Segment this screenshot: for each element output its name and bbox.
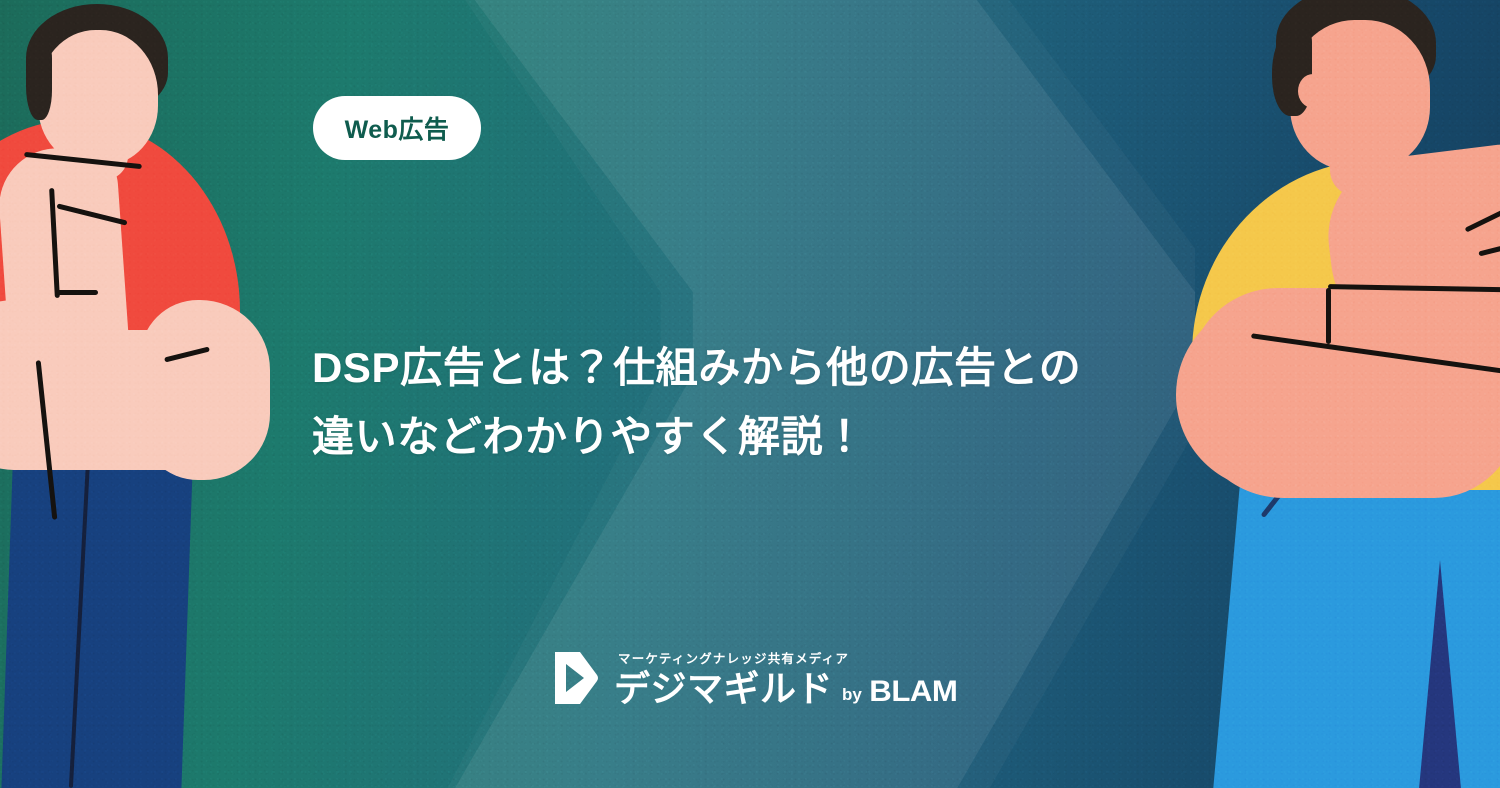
logo-site-name: デジマギルド: [614, 671, 833, 707]
logo-parent-brand: BLAM: [869, 677, 957, 707]
article-hero-banner: Web広告 DSP広告とは？仕組みから他の広告との 違いなどわかりやすく解説！ …: [0, 0, 1500, 788]
logo-name-row: デジマギルド by BLAM: [614, 671, 956, 707]
play-d-mark-icon: [552, 649, 600, 707]
category-badge[interactable]: Web広告: [313, 96, 481, 160]
logo-tagline: マーケティングナレッジ共有メディア: [618, 648, 956, 667]
category-badge-label: Web広告: [345, 110, 450, 146]
site-logo[interactable]: マーケティングナレッジ共有メディア デジマギルド by BLAM: [552, 648, 956, 707]
page-title-line-1: DSP広告とは？仕組みから他の広告との: [312, 344, 1081, 391]
page-title: DSP広告とは？仕組みから他の広告との 違いなどわかりやすく解説！: [312, 333, 1152, 472]
logo-by-label: by: [842, 686, 862, 703]
banner-content: Web広告 DSP広告とは？仕組みから他の広告との 違いなどわかりやすく解説！ …: [0, 0, 1500, 788]
page-title-line-2: 違いなどわかりやすく解説！: [312, 413, 866, 460]
logo-text-group: マーケティングナレッジ共有メディア デジマギルド by BLAM: [614, 648, 956, 707]
